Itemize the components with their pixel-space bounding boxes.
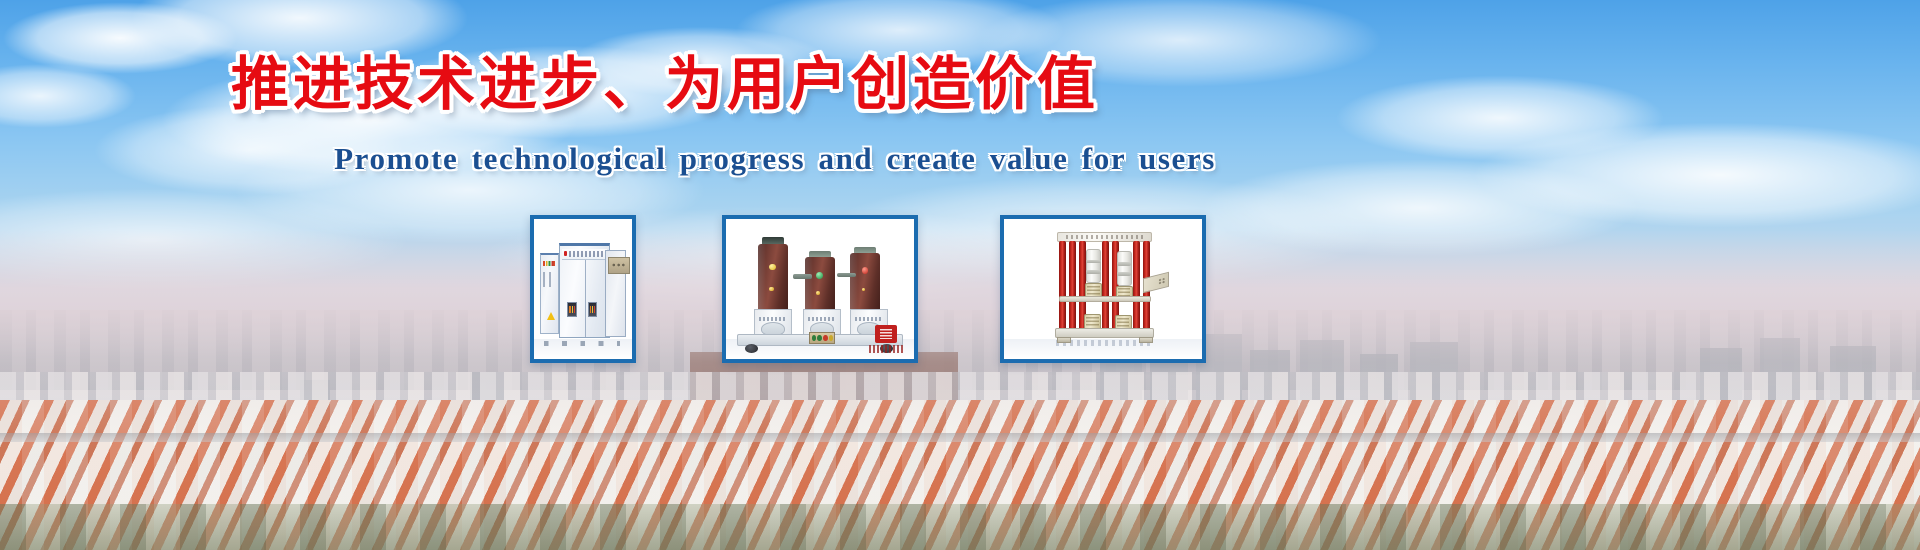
indicator-lamp-row	[543, 261, 556, 266]
phase-indicator	[594, 306, 595, 313]
middle-shelf	[1059, 296, 1150, 302]
hero-banner: 推进技术进步、为用户创造价值 Promote technological pro…	[0, 0, 1920, 550]
banner-headline-chinese: 推进技术进步、为用户创造价值	[0, 52, 1625, 116]
cabinet-nameplate	[562, 249, 607, 261]
insulator-rod	[1059, 241, 1066, 335]
interrupter-ring	[1086, 260, 1100, 264]
control-knob-group	[543, 272, 555, 288]
main-cabinet	[559, 243, 610, 338]
banner-subtitle-english: Promote technological progress and creat…	[0, 141, 1735, 177]
phase-indicator	[572, 306, 573, 313]
phase-indicator	[592, 306, 593, 313]
mounting-foot	[1057, 337, 1071, 343]
terminal-pin	[817, 335, 821, 341]
vacuum-circuit-breaker-image	[726, 219, 914, 359]
interrupter-ring	[1117, 272, 1131, 276]
indicator-dot	[769, 264, 776, 271]
viewing-window	[588, 302, 597, 317]
logo-mark	[875, 325, 897, 342]
terminal-block	[809, 332, 835, 343]
viewing-window	[567, 302, 576, 317]
busbar-duct	[608, 257, 630, 274]
product-panel-vacuum-circuit-breaker[interactable]	[722, 215, 918, 363]
indicator-dot	[862, 267, 869, 274]
indicator-dot	[862, 288, 866, 292]
base-nameplate	[855, 317, 883, 320]
base-nameplate	[808, 317, 836, 320]
pole-top-terminal	[809, 251, 831, 257]
phase-indicator	[574, 306, 575, 313]
logo-wordmark	[869, 345, 903, 353]
control-cubicle	[540, 253, 560, 334]
interrupter-ring	[1086, 270, 1100, 274]
warning-triangle-icon	[547, 312, 555, 320]
product-panel-vacuum-contactor[interactable]	[1000, 215, 1206, 363]
insulator-rod	[1069, 241, 1076, 335]
vacuum-interrupter	[1117, 251, 1132, 285]
contactor-assembly	[1055, 232, 1154, 347]
mounting-foot	[1139, 337, 1153, 343]
pole-top-terminal	[854, 247, 876, 253]
terminal-pin	[823, 335, 827, 341]
indicator-dot	[816, 272, 823, 279]
switchgear-cabinet-image	[534, 219, 632, 359]
pole-top-terminal	[762, 237, 784, 244]
insulator-rod	[1102, 241, 1109, 335]
atmospheric-veil	[0, 310, 1920, 550]
interrupter-ring	[1117, 262, 1131, 266]
phase-indicator	[590, 306, 591, 313]
product-panel-switchgear-cabinet[interactable]	[530, 215, 636, 363]
brand-logo	[869, 325, 903, 353]
insulator-rod	[1133, 241, 1140, 335]
terminal-pin	[812, 335, 816, 341]
mounting-bracket	[793, 274, 812, 278]
base-nameplate	[759, 317, 787, 320]
mounting-bracket	[837, 273, 856, 278]
door-seam	[585, 260, 586, 337]
vacuum-interrupter	[1086, 249, 1101, 283]
phase-indicator	[569, 306, 570, 313]
cabinet-feet	[544, 341, 620, 347]
indicator-dot	[816, 291, 820, 295]
indicator-dot	[769, 287, 773, 291]
cityscape-layer	[0, 310, 1920, 550]
terminal-pin	[829, 335, 833, 341]
vacuum-contactor-image	[1004, 219, 1202, 359]
